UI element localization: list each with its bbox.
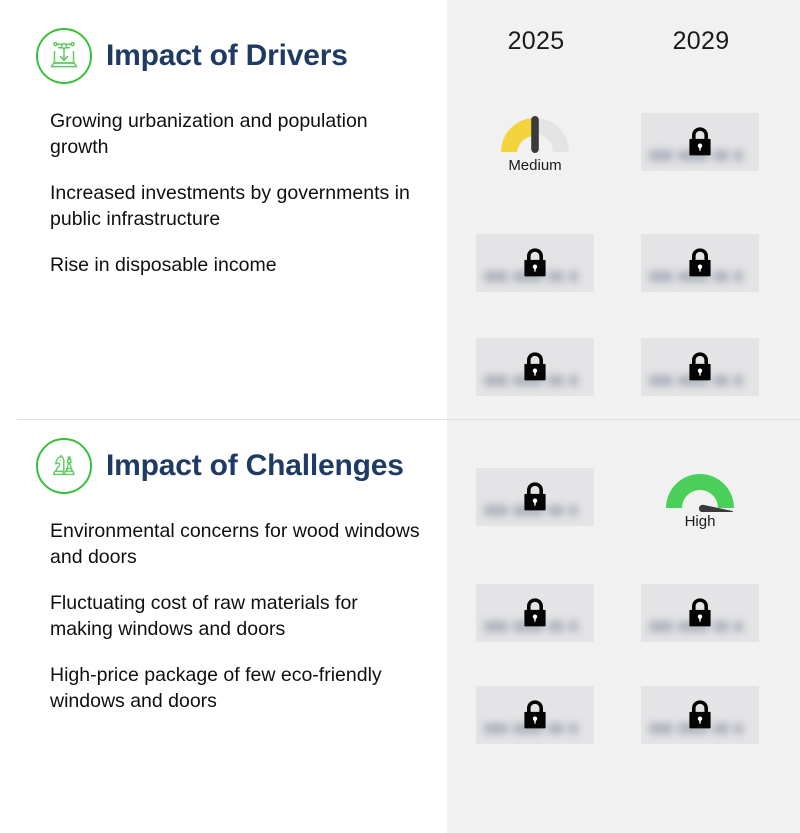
section-header-challenges: Impact of Challenges [36,438,404,494]
bullet-item: Increased investments by governments in … [50,180,425,232]
bullet-list-challenges: Environmental concerns for wood windows … [50,518,425,734]
cell-drivers-r3-c2029[interactable] [641,338,759,412]
locked-value-cell[interactable] [476,584,594,642]
cell-challenges-r3-c2025[interactable] [476,686,594,760]
gauge-value-label: High [641,513,759,530]
padlock-icon [686,124,714,158]
cell-challenges-r2-c2029[interactable] [641,584,759,658]
locked-value-cell[interactable] [476,686,594,744]
padlock-icon [521,697,549,731]
cell-drivers-r1-c2029[interactable] [641,113,759,187]
padlock-icon [521,479,549,513]
locked-value-cell[interactable] [641,338,759,396]
gauge-icon: High [641,464,759,530]
locked-value-cell[interactable] [641,584,759,642]
gauge-value-label: Medium [476,157,594,174]
locked-value-cell[interactable] [641,234,759,292]
bullet-item: Growing urbanization and population grow… [50,108,425,160]
bullet-item: Environmental concerns for wood windows … [50,518,425,570]
cell-challenges-r2-c2025[interactable] [476,584,594,658]
bullet-item: High-price package of few eco-friendly w… [50,662,425,714]
padlock-icon [521,349,549,383]
padlock-icon [686,595,714,629]
section-title-drivers: Impact of Drivers [106,39,348,73]
section-divider [17,419,800,420]
cell-challenges-r1-c2029: High [641,464,759,538]
locked-value-cell[interactable] [476,338,594,396]
padlock-icon [521,245,549,279]
drivers-laptop-arrow-icon [36,28,92,84]
locked-value-cell[interactable] [476,468,594,526]
padlock-icon [521,595,549,629]
cell-drivers-r3-c2025[interactable] [476,338,594,412]
cell-challenges-r1-c2025[interactable] [476,468,594,542]
gauge-icon: Medium [476,108,594,174]
cell-drivers-r2-c2025[interactable] [476,234,594,308]
bullet-item: Fluctuating cost of raw materials for ma… [50,590,425,642]
cell-drivers-r1-c2025: Medium [476,108,594,182]
infographic-canvas: 2025 2029 Impact of Drivers Growing urba… [0,0,800,833]
section-title-challenges: Impact of Challenges [106,449,404,483]
column-header-2029: 2029 [641,27,761,56]
padlock-icon [686,245,714,279]
challenges-chess-pieces-icon [36,438,92,494]
section-header-drivers: Impact of Drivers [36,28,348,84]
locked-value-cell[interactable] [476,234,594,292]
locked-value-cell[interactable] [641,113,759,171]
cell-drivers-r2-c2029[interactable] [641,234,759,308]
bullet-list-drivers: Growing urbanization and population grow… [50,108,425,298]
locked-value-cell[interactable] [641,686,759,744]
column-header-2025: 2025 [476,27,596,56]
padlock-icon [686,349,714,383]
padlock-icon [686,697,714,731]
bullet-item: Rise in disposable income [50,252,425,278]
cell-challenges-r3-c2029[interactable] [641,686,759,760]
